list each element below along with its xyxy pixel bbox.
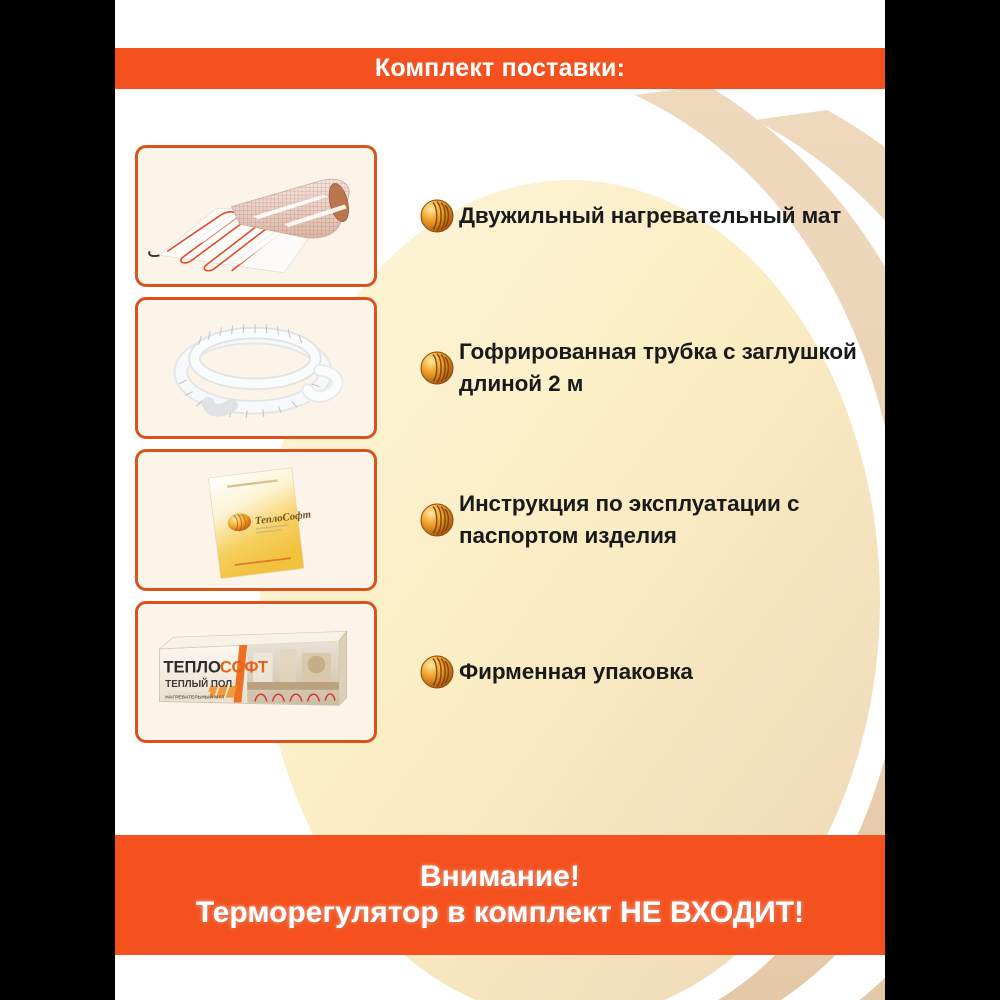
bullet-container [415,655,459,689]
package-box-illustration: ТЕПЛО СОФТ ТЕПЛЫЙ ПОЛ НАГРЕВАТЕЛЬНЫЙ МАТ [138,604,374,742]
warning-message: Терморегулятор в комплект НЕ ВХОДИТ! [196,896,804,930]
svg-text:ТЕПЛО: ТЕПЛО [163,657,221,676]
svg-text:СОФТ: СОФТ [220,657,268,676]
list-item: ТЕПЛО СОФТ ТЕПЛЫЙ ПОЛ НАГРЕВАТЕЛЬНЫЙ МАТ [115,596,885,748]
warning-banner: Внимание! Терморегулятор в комплект НЕ В… [115,835,885,955]
gold-sphere-waves-icon [420,351,454,385]
corrugated-tube-photo[interactable] [135,297,377,439]
list-item-label: Инструкция по эксплуатации с паспортом и… [459,488,885,552]
warning-headline: Внимание! [420,860,580,894]
corrugated-tube-illustration [138,300,374,438]
manual-photo[interactable]: ТеплоСофт [135,449,377,591]
list-item-label: Фирменная упаковка [459,656,885,688]
bullet-container [415,503,459,537]
gold-sphere-waves-icon [420,199,454,233]
list-item: Двужильный нагревательный мат [115,140,885,292]
gold-sphere-waves-icon [420,503,454,537]
list-item: ТеплоСофт [115,444,885,596]
svg-text:ТЕПЛЫЙ ПОЛ: ТЕПЛЫЙ ПОЛ [165,678,232,690]
screenshot-root: Комплект поставки: [0,0,1000,1000]
list-item: Гофрированная трубка с заглушкой длиной … [115,292,885,444]
heating-mat-illustration [138,148,374,286]
header-banner: Комплект поставки: [115,48,885,89]
kit-contents-list: Двужильный нагревательный мат [115,140,885,748]
gold-sphere-waves-icon [420,655,454,689]
manual-illustration: ТеплоСофт [138,452,374,590]
heating-mat-photo[interactable] [135,145,377,287]
list-item-label: Двужильный нагревательный мат [459,200,885,232]
bullet-container [415,199,459,233]
package-box-photo[interactable]: ТЕПЛО СОФТ ТЕПЛЫЙ ПОЛ НАГРЕВАТЕЛЬНЫЙ МАТ [135,601,377,743]
list-item-label: Гофрированная трубка с заглушкой длиной … [459,336,885,400]
bullet-container [415,351,459,385]
page-title: Комплект поставки: [375,54,625,83]
content-panel: Комплект поставки: [115,0,885,1000]
